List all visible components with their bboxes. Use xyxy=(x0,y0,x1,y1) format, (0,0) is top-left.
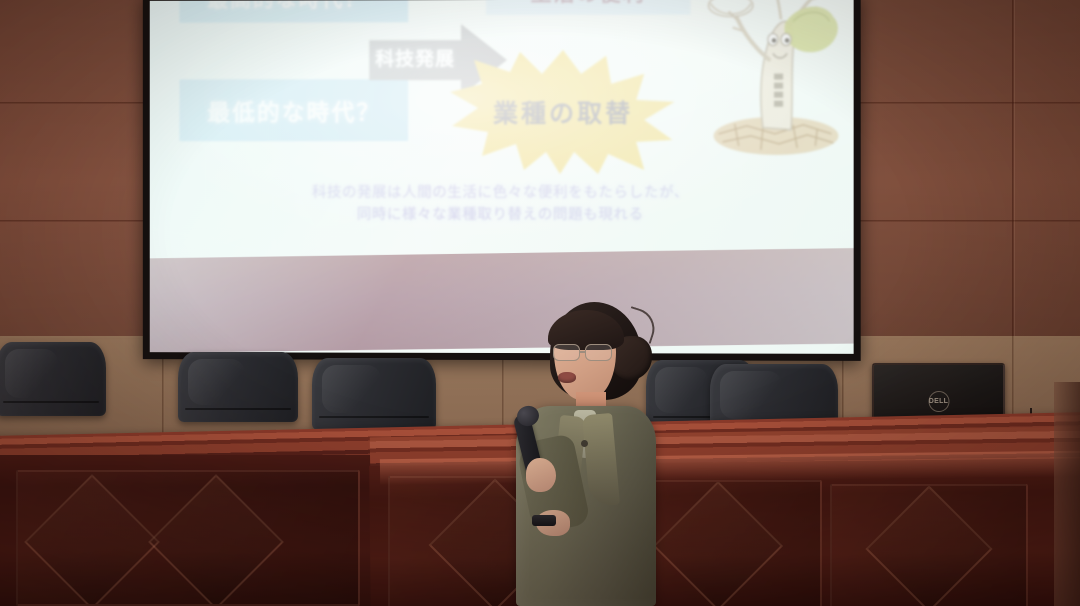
podium-panel xyxy=(830,484,1028,606)
presenter xyxy=(498,298,678,606)
podium-diamond-inlay xyxy=(148,474,284,606)
slide-box-life-convenience-label: 生活の便利 xyxy=(531,0,646,7)
slide-caption-line-2: 同時に様々な業種取り替えの問題も現れる xyxy=(150,204,854,227)
right-wall-pillar xyxy=(1054,382,1080,606)
slide-arrow-label: 科技発展 xyxy=(375,44,455,71)
chair-sheen xyxy=(322,365,382,413)
lecture-hall-photo: 最高的な時代？ 最低的な時代？ 生活の便利 科技発展 xyxy=(0,0,1080,606)
glasses-lens-left xyxy=(553,344,580,361)
slide-caption: 科技の発展は人間の生活に色々な便利をもたらしたが、 同時に様々な業種取り替えの問… xyxy=(150,182,854,227)
presenter-mouth xyxy=(558,372,576,383)
dell-logo-icon: DELL xyxy=(928,391,949,412)
glasses-lens-right xyxy=(585,344,612,361)
presenter-glasses xyxy=(552,344,622,362)
presenter-necklace xyxy=(581,440,588,447)
chair xyxy=(312,358,436,430)
slide-box-worst-era-label: 最低的な時代？ xyxy=(179,93,381,127)
slide-box-life-convenience: 生活の便利 xyxy=(486,0,690,15)
slide-starburst-industry-replacement: 業種の取替 xyxy=(448,48,678,176)
chair-sheen xyxy=(188,359,246,405)
slide-tree-illustration xyxy=(701,0,852,163)
slide-box-best-era: 最高的な時代？ xyxy=(179,0,408,23)
glasses-bridge xyxy=(580,351,586,353)
presentation-remote xyxy=(532,515,556,526)
slide-caption-line-1: 科技の発展は人間の生活に色々な便利をもたらしたが、 xyxy=(312,185,689,201)
cartoon-tree-icon xyxy=(701,0,852,163)
podium-panel xyxy=(16,470,360,606)
slide-box-best-era-label: 最高的な時代？ xyxy=(179,0,367,14)
chair xyxy=(0,342,106,416)
podium-diamond-inlay xyxy=(865,485,992,606)
chair xyxy=(178,352,298,422)
slide-starburst-label: 業種の取替 xyxy=(448,94,678,130)
podium-diamond-inlay xyxy=(24,474,160,606)
chair-sheen xyxy=(5,349,58,398)
chair-sheen xyxy=(720,371,781,419)
presenter-right-hand xyxy=(526,458,556,492)
